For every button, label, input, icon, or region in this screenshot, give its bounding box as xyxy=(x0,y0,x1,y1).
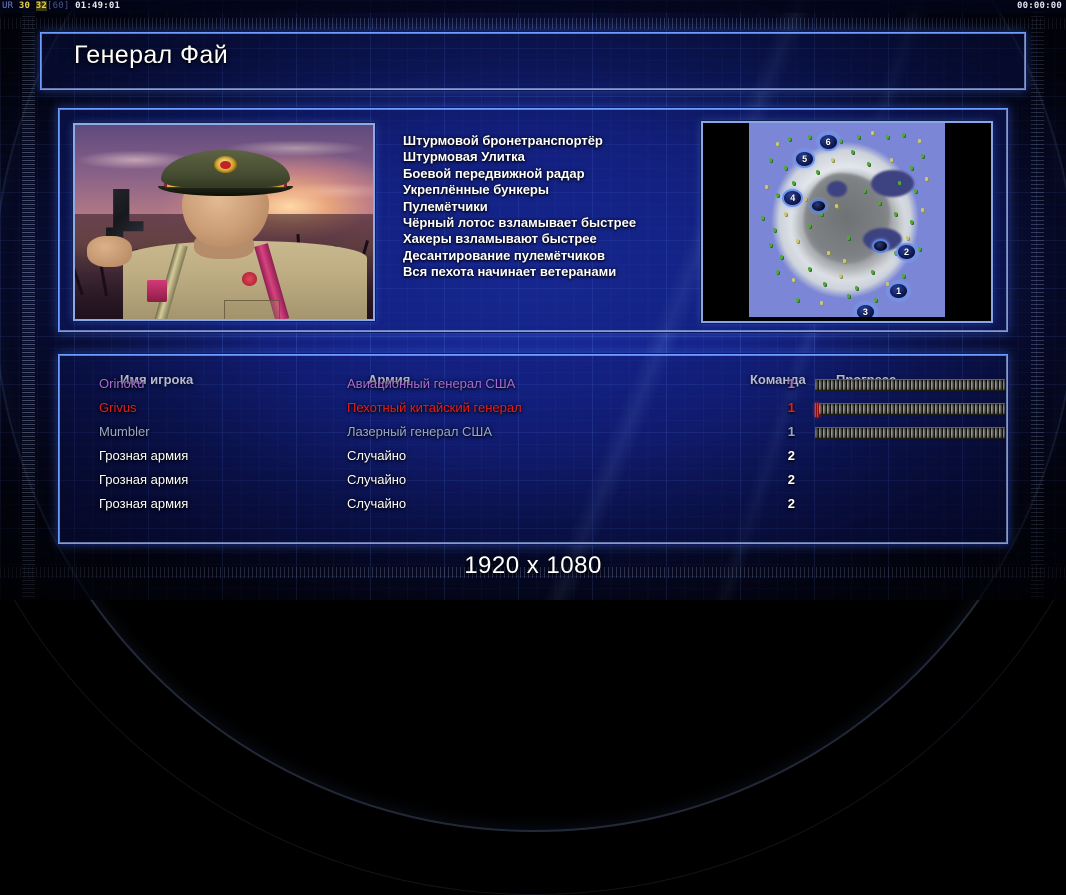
map-resource-marker xyxy=(910,220,913,224)
debug-overlay-bar: UR 30 32[60] 01:49:01 00:00:00 xyxy=(0,0,1066,13)
progress-bar-track xyxy=(815,379,1005,391)
progress-bar xyxy=(815,427,1005,439)
ability-item: Чёрный лотос взламывает быстрее xyxy=(403,215,703,231)
progress-bar xyxy=(815,379,1005,391)
player-team: 2 xyxy=(759,448,795,463)
map-water xyxy=(827,181,847,197)
player-army: Лазерный генерал США xyxy=(347,424,492,439)
map-resource-marker xyxy=(910,166,913,170)
fps-limit: [60] xyxy=(47,1,69,11)
ability-item: Штурмовая Улитка xyxy=(403,149,703,165)
player-team: 1 xyxy=(759,424,795,439)
map-resource-marker xyxy=(765,185,768,189)
map-resource-marker xyxy=(902,133,905,137)
general-portrait xyxy=(73,123,375,321)
progress-bar xyxy=(815,403,1005,415)
ability-item: Укреплённые бункеры xyxy=(403,182,703,198)
map-resource-marker xyxy=(878,201,881,205)
fps-value-alt: 32 xyxy=(36,1,47,11)
player-army: Авиационный генерал США xyxy=(347,376,515,391)
map-resource-marker xyxy=(906,236,909,240)
general-info-panel: Штурмовой бронетранспортёрШтурмовая Улит… xyxy=(58,108,1008,332)
player-name: Grivus xyxy=(99,400,137,415)
fps-value: 30 xyxy=(19,1,30,11)
table-row[interactable]: OrinokuАвиационный генерал США1 xyxy=(59,373,1007,397)
map-resource-marker xyxy=(804,197,807,201)
portrait-medal-star xyxy=(242,272,257,286)
player-team: 2 xyxy=(759,496,795,511)
fps-counter: UR 30 32[60] 01:49:01 xyxy=(2,0,120,13)
player-team: 1 xyxy=(759,400,795,415)
map-image: 654213 xyxy=(749,123,945,317)
map-start-position-6[interactable]: 6 xyxy=(818,133,839,151)
table-row[interactable]: MumblerЛазерный генерал США1 xyxy=(59,421,1007,445)
map-resource-marker xyxy=(863,189,866,193)
player-team: 2 xyxy=(759,472,795,487)
map-resource-marker xyxy=(925,177,928,181)
map-resource-marker xyxy=(784,166,787,170)
player-army: Случайно xyxy=(347,472,406,487)
player-name: Orinoku xyxy=(99,376,145,391)
abilities-ul: Штурмовой бронетранспортёрШтурмовая Улит… xyxy=(403,133,703,281)
map-start-position-3[interactable]: 3 xyxy=(855,303,876,317)
map-resource-marker xyxy=(773,228,776,232)
player-list-panel: OrinokuАвиационный генерал США1GrivusПех… xyxy=(58,354,1008,544)
player-name: Грозная армия xyxy=(99,448,188,463)
map-resource-marker xyxy=(839,139,842,143)
map-resource-marker xyxy=(898,181,901,185)
map-resource-marker xyxy=(808,267,811,271)
player-army: Случайно xyxy=(347,448,406,463)
map-resource-marker xyxy=(847,294,850,298)
ability-item: Пулемётчики xyxy=(403,199,703,215)
player-name: Mumbler xyxy=(99,424,150,439)
map-water xyxy=(871,170,914,197)
player-army: Случайно xyxy=(347,496,406,511)
map-resource-marker xyxy=(921,154,924,158)
general-abilities-list: Штурмовой бронетранспортёрШтурмовая Улит… xyxy=(403,133,703,281)
progress-marker xyxy=(815,403,819,417)
table-row[interactable]: Грозная армияСлучайно2 xyxy=(59,445,1007,469)
map-resource-marker xyxy=(776,142,779,146)
map-resource-marker xyxy=(886,135,889,139)
map-resource-marker xyxy=(871,131,874,135)
map-resource-marker xyxy=(847,236,850,240)
ability-item: Вся пехота начинает ветеранами xyxy=(403,264,703,280)
map-resource-marker xyxy=(855,286,858,290)
map-resource-marker xyxy=(914,189,917,193)
match-timer: 00:00:00 xyxy=(1017,0,1062,13)
map-resource-marker xyxy=(769,243,772,247)
map-resource-marker xyxy=(816,170,819,174)
map-resource-marker xyxy=(820,301,823,305)
map-resource-marker xyxy=(871,270,874,274)
table-row[interactable]: Грозная армияСлучайно2 xyxy=(59,493,1007,517)
map-resource-marker xyxy=(867,162,870,166)
player-army: Пехотный китайский генерал xyxy=(347,400,522,415)
challenge-screen-frame: Генерал Фай Штурмовой бр xyxy=(40,32,1026,560)
map-resource-marker xyxy=(788,137,791,141)
map-resource-marker xyxy=(918,139,921,143)
session-clock: 01:49:01 xyxy=(75,1,120,11)
table-row[interactable]: Грозная армияСлучайно2 xyxy=(59,469,1007,493)
progress-bar-track xyxy=(815,403,1005,415)
ability-item: Штурмовой бронетранспортёр xyxy=(403,133,703,149)
map-resource-marker xyxy=(918,247,921,251)
progress-bar-track xyxy=(815,427,1005,439)
player-name: Грозная армия xyxy=(99,472,188,487)
map-resource-marker xyxy=(851,150,854,154)
player-team: 1 xyxy=(759,376,795,391)
table-row[interactable]: GrivusПехотный китайский генерал1 xyxy=(59,397,1007,421)
map-resource-marker xyxy=(843,259,846,263)
portrait-pocket xyxy=(224,300,280,321)
map-resource-marker xyxy=(808,224,811,228)
ability-item: Десантирование пулемётчиков xyxy=(403,248,703,264)
map-resource-marker xyxy=(769,158,772,162)
map-neutral-structure xyxy=(810,199,827,213)
map-resource-marker xyxy=(761,216,764,220)
title-bar: Генерал Фай xyxy=(40,32,1026,90)
portrait-medal-ribbon xyxy=(147,280,168,301)
map-resource-marker xyxy=(857,135,860,139)
map-preview: 654213 xyxy=(701,121,993,323)
fps-label: UR xyxy=(2,1,13,11)
portrait-hand xyxy=(87,236,132,267)
ability-item: Хакеры взламывают быстрее xyxy=(403,231,703,247)
map-start-position-1[interactable]: 1 xyxy=(888,282,909,300)
map-resource-marker xyxy=(902,274,905,278)
page-title: Генерал Фай xyxy=(74,41,228,70)
map-resource-marker xyxy=(890,158,893,162)
player-name: Грозная армия xyxy=(99,496,188,511)
ability-item: Боевой передвижной радар xyxy=(403,166,703,182)
resolution-label: 1920 x 1080 xyxy=(0,552,1066,580)
map-resource-marker xyxy=(796,298,799,302)
map-resource-marker xyxy=(808,135,811,139)
map-resource-marker xyxy=(820,212,823,216)
